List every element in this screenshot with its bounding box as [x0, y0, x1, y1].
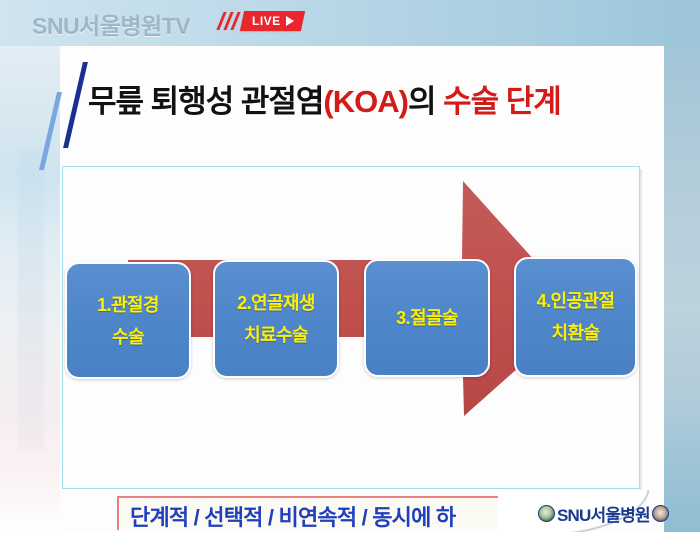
screenshot-root: SNU서울병원TV LIVE 무릎 퇴행성 관절염(KOA)의 수술 단계	[0, 0, 700, 551]
presentation-slide: SNU서울병원TV LIVE 무릎 퇴행성 관절염(KOA)의 수술 단계	[0, 0, 700, 532]
stage-box-1-line1: 1.관절경	[97, 296, 159, 314]
slide-title-part2: 의	[408, 84, 436, 119]
live-badge-label: LIVE	[252, 14, 281, 28]
stage-box-4-line2: 치환술	[552, 324, 600, 342]
stage-box-1-line2: 수술	[112, 328, 144, 346]
slide-background-right-gradient	[664, 0, 700, 532]
slide-title-koa: (KOA)	[323, 84, 408, 119]
stage-box-3-line1: 3.절골술	[396, 309, 458, 327]
page-bottom-margin	[0, 532, 700, 551]
channel-header-inner: SNU서울병원TV LIVE	[0, 0, 700, 46]
slide-background-left-accent	[18, 150, 44, 450]
watermark-text: SNU서울병원	[557, 501, 650, 526]
slide-title-highlight: 수술 단계	[443, 84, 561, 119]
live-badge: LIVE	[240, 11, 305, 31]
title-accent-slash-dark	[63, 62, 88, 148]
stage-box-2-line1: 2.연골재생	[237, 294, 315, 312]
watermark-logo: SNU서울병원	[538, 501, 669, 526]
play-triangle-icon	[286, 16, 294, 26]
channel-header-bar: SNU서울병원TV LIVE	[0, 0, 700, 46]
stage-box-2-line2: 치료수술	[244, 326, 308, 344]
stage-box-2[interactable]: 2.연골재생 치료수술	[213, 260, 339, 378]
stage-box-1[interactable]: 1.관절경 수술	[65, 262, 191, 379]
slide-title-part1: 무릎 퇴행성 관절염	[88, 84, 323, 119]
stage-box-4[interactable]: 4.인공관절 치환술	[514, 257, 637, 377]
circular-emblem-icon	[538, 505, 555, 522]
stage-box-3[interactable]: 3.절골술	[364, 259, 490, 377]
channel-brand-title: SNU서울병원TV	[32, 7, 190, 41]
circular-emblem-icon	[652, 505, 669, 522]
summary-banner-text: 단계적 / 선택적 / 비연속적 / 동시에 하	[130, 500, 455, 530]
hospital-watermark: SNU서울병원	[498, 490, 700, 532]
slide-background-right-inner	[650, 0, 664, 532]
stage-box-4-line1: 4.인공관절	[537, 292, 615, 310]
summary-banner: 단계적 / 선택적 / 비연속적 / 동시에 하	[117, 496, 547, 530]
slide-title: 무릎 퇴행성 관절염(KOA)의 수술 단계	[88, 76, 561, 121]
live-indicator: LIVE	[218, 10, 303, 32]
